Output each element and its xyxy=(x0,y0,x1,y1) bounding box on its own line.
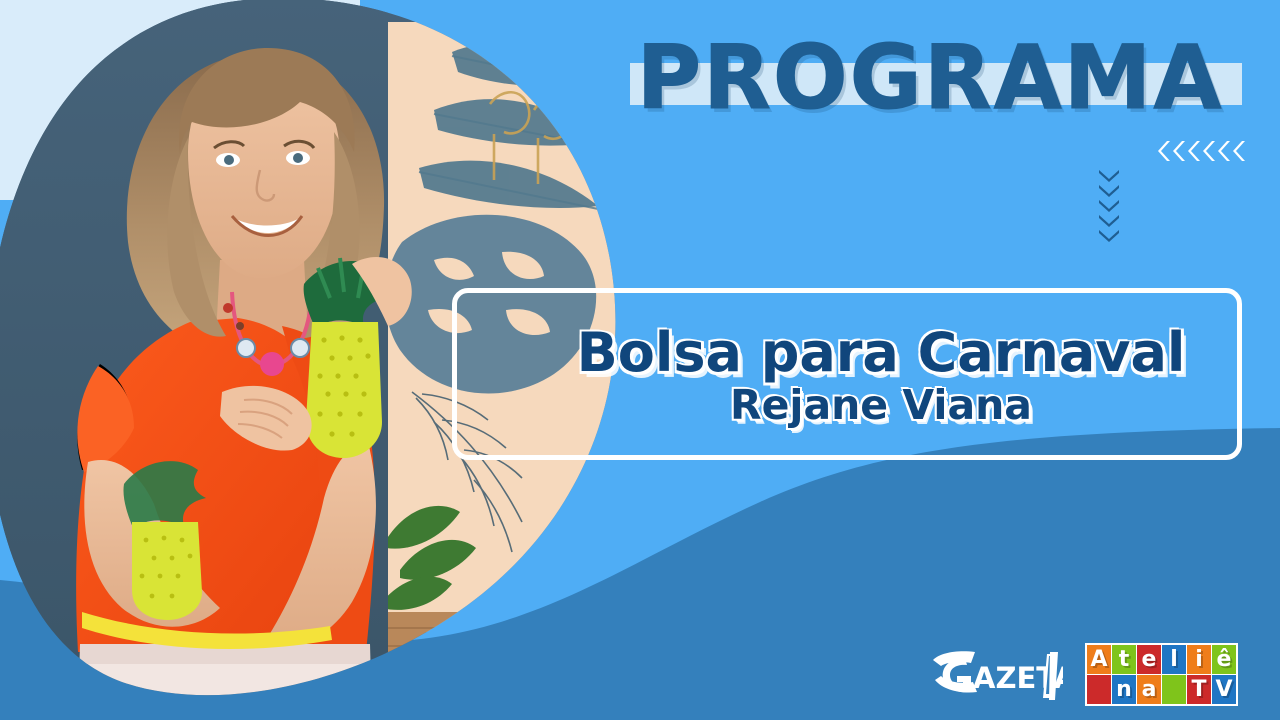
atelie-na-tv-logo[interactable]: A t e l i ê n a T V xyxy=(1085,643,1238,706)
logo-cell: ê xyxy=(1212,645,1236,674)
program-title: Bolsa para Carnaval xyxy=(577,325,1186,382)
logo-row: AZETA A t e l i ê n a T V xyxy=(931,643,1238,706)
chevron-left-icon xyxy=(1188,140,1202,162)
chevron-down-icon xyxy=(1098,183,1120,197)
logo-cell: e xyxy=(1137,645,1161,674)
logo-cell xyxy=(1162,675,1186,704)
chevron-down-icon xyxy=(1098,168,1120,182)
logo-cell: l xyxy=(1162,645,1186,674)
gazeta-logo[interactable]: AZETA xyxy=(931,646,1063,704)
logo-cell: n xyxy=(1112,675,1136,704)
logo-cell xyxy=(1087,675,1111,704)
lower-third-graphic: PROGRAMA Bolsa para Carnaval Rejane Vian… xyxy=(0,0,1280,720)
logo-cell: i xyxy=(1187,645,1211,674)
chevron-left-icon xyxy=(1218,140,1232,162)
chevron-down-icon xyxy=(1098,228,1120,242)
logo-cell: T xyxy=(1187,675,1211,704)
chevron-left-icon xyxy=(1158,140,1172,162)
chevrons-left-white xyxy=(1158,140,1247,162)
chevron-left-icon xyxy=(1233,140,1247,162)
logo-cell: A xyxy=(1087,645,1111,674)
logo-cell: V xyxy=(1212,675,1236,704)
logo-cell: a xyxy=(1137,675,1161,704)
chevron-down-icon xyxy=(1098,213,1120,227)
chevron-left-icon xyxy=(1173,140,1187,162)
kicker-text: PROGRAMA xyxy=(600,18,1260,138)
chevron-left-icon xyxy=(1203,140,1217,162)
logo-cell: t xyxy=(1112,645,1136,674)
chevron-down-icon xyxy=(1098,198,1120,212)
presenter-name: Rejane Viana xyxy=(730,384,1032,427)
kicker-block: PROGRAMA xyxy=(600,18,1260,138)
title-card: Bolsa para Carnaval Rejane Viana xyxy=(520,296,1242,456)
chevrons-down-dark xyxy=(1098,168,1120,242)
